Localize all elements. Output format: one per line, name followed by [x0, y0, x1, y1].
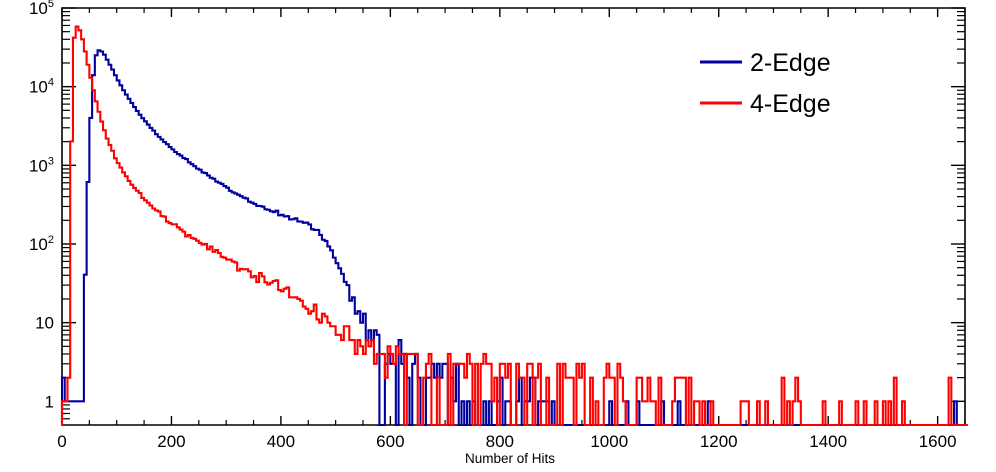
- y-tick-label: 105: [29, 0, 54, 18]
- y-tick-label: 103: [29, 155, 54, 175]
- x-axis-tick-labels: 02004006008001000120014001600: [57, 432, 956, 451]
- x-tick-label: 200: [157, 432, 185, 451]
- x-tick-label: 800: [486, 432, 514, 451]
- y-tick-label: 104: [29, 77, 54, 97]
- y-axis-tick-labels: 110102103104105: [29, 0, 54, 411]
- histogram-plot: 02004006008001000120014001600 1101021031…: [0, 0, 996, 472]
- legend-label-2-edge: 2-Edge: [750, 49, 831, 77]
- legend-label-4-edge: 4-Edge: [750, 90, 831, 118]
- series-4-edge: [62, 27, 968, 425]
- x-axis-title: Number of Hits: [465, 451, 555, 466]
- series-2-edge: [62, 50, 968, 425]
- x-tick-label: 0: [57, 432, 66, 451]
- series-group: [62, 27, 968, 425]
- chart-legend: 2-Edge4-Edge: [700, 49, 831, 118]
- y-tick-label: 10: [35, 314, 54, 333]
- x-tick-label: 1400: [809, 432, 847, 451]
- chart-canvas: 02004006008001000120014001600 1101021031…: [0, 0, 996, 472]
- x-tick-label: 1200: [700, 432, 738, 451]
- x-tick-label: 1600: [919, 432, 957, 451]
- y-tick-label: 102: [29, 234, 54, 254]
- x-tick-label: 1000: [590, 432, 628, 451]
- x-tick-label: 600: [376, 432, 404, 451]
- x-tick-label: 400: [267, 432, 295, 451]
- y-tick-label: 1: [45, 392, 54, 411]
